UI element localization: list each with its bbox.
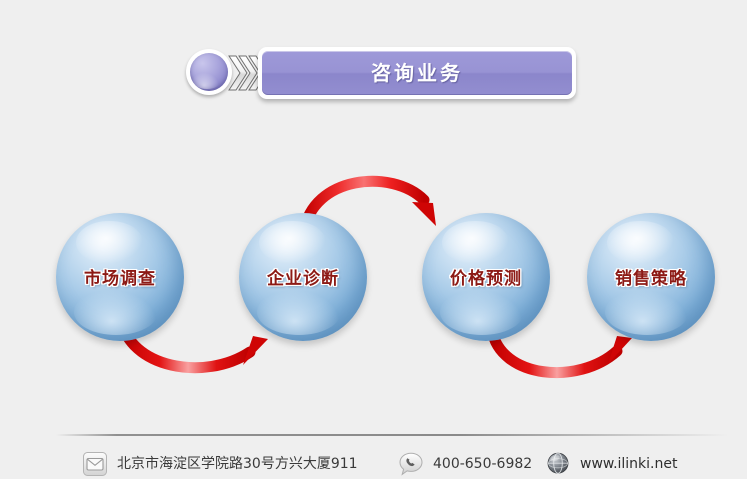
title-bar-inner: 咨询业务 [262,51,572,95]
footer: 北京市海淀区学院路30号方兴大厦911 400-650-6982 [0,428,747,479]
footer-phone-text: 400-650-6982 [433,457,532,471]
globe-icon [545,451,571,477]
footer-address-text: 北京市海淀区学院路30号方兴大厦911 [117,457,358,471]
flow-node-4-label: 销售策略 [587,264,715,289]
slide-canvas: 咨询业务 [0,0,747,479]
phone-bubble-icon [398,451,424,477]
footer-address-item: 北京市海淀区学院路30号方兴大厦911 [82,450,358,478]
flow-node-1[interactable]: 市场调查 [56,213,184,341]
envelope-icon [82,451,108,477]
flow-node-4[interactable]: 销售策略 [587,213,715,341]
flow-node-3[interactable]: 价格预测 [422,213,550,341]
title-bar: 咨询业务 [258,47,576,99]
footer-phone-item: 400-650-6982 [398,450,532,478]
flow-node-2[interactable]: 企业诊断 [239,213,367,341]
flow-node-1-label: 市场调查 [56,264,184,289]
footer-website-text: www.ilinki.net [580,457,677,471]
flow-node-2-label: 企业诊断 [239,264,367,289]
flow-node-3-label: 价格预测 [422,264,550,289]
title-banner: 咨询业务 [186,47,576,101]
sphere-bullet-icon [186,49,232,95]
footer-divider [56,434,728,436]
footer-website-item[interactable]: www.ilinki.net [545,450,677,478]
page-title: 咨询业务 [371,63,463,83]
sphere-bullet-inner [190,53,228,91]
